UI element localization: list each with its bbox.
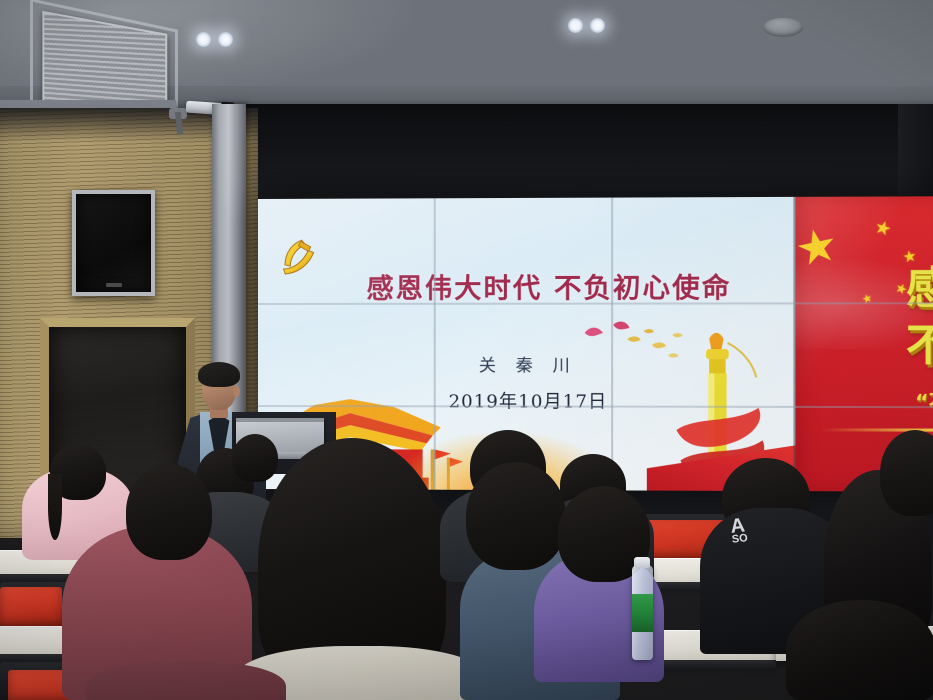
audience-seating-area — [0, 430, 933, 700]
red-panel-headline-1: 感 — [906, 253, 933, 316]
downlight-icon-left — [196, 32, 236, 49]
speaker-logo — [106, 283, 122, 287]
jacket-print-line2: SO — [731, 534, 748, 545]
red-panel-headline-2: 不 — [906, 310, 933, 373]
student-maroon-hoodie-head — [126, 464, 212, 560]
red-panel-subquote: “不 — [915, 386, 933, 416]
student-head-back-2 — [232, 434, 278, 482]
stage-backdrop-upper — [246, 104, 933, 200]
photo-scene: 感恩伟大时代 不负初心使命 关 秦 川 2019年10月17日 — [0, 0, 933, 700]
flag-big-star-icon: ★ — [791, 219, 842, 273]
water-bottle-label — [632, 594, 653, 632]
presenter-hair — [198, 362, 240, 387]
cpc-party-emblem-icon — [273, 234, 322, 280]
water-bottle-cap — [634, 557, 650, 568]
downlight-icon-right — [568, 18, 608, 35]
student-head-foreground-right — [786, 600, 933, 700]
seat-mid-left[interactable] — [0, 587, 62, 627]
slide-title: 感恩伟大时代 不负初心使命 — [346, 266, 752, 306]
wall-speaker — [72, 190, 155, 296]
laptop-lid-edge — [236, 418, 324, 422]
student-denim-jacket-head — [466, 462, 566, 570]
jacket-print-text: A SO — [730, 516, 749, 545]
student-foreground-left-body — [86, 662, 286, 700]
slide-author: 关 秦 川 — [406, 351, 649, 376]
smoke-detector-icon — [763, 18, 803, 37]
presenter-ear — [233, 386, 240, 397]
student-pink-hoodie-hair — [48, 474, 62, 540]
student-head-far-right-2 — [880, 430, 933, 516]
